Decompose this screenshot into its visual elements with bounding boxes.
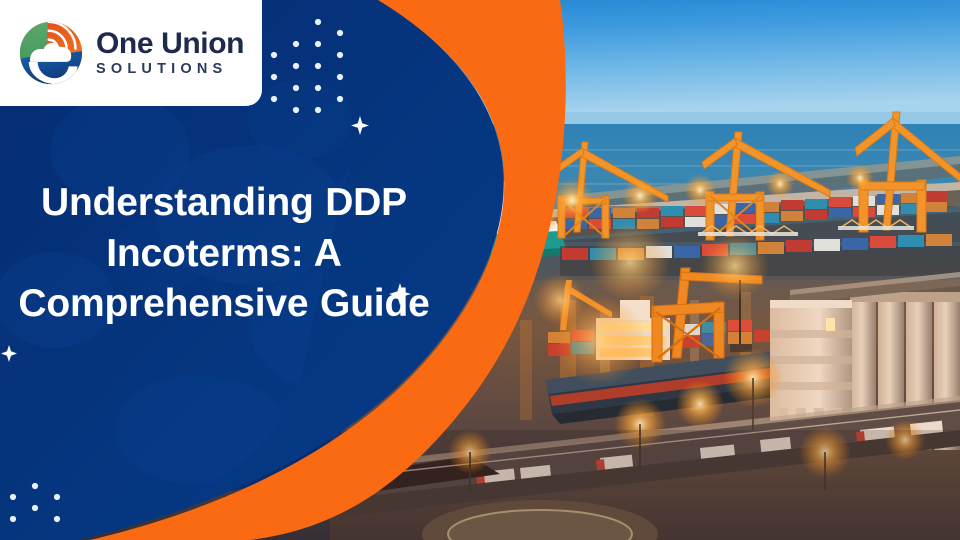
one-union-logo-icon bbox=[14, 16, 88, 90]
logo-company-name: One Union bbox=[96, 29, 244, 59]
cover-title-block: Understanding DDP Incoterms: A Comprehen… bbox=[14, 178, 434, 330]
blog-cover-banner: One Union SOLUTIONS Understanding DDP In… bbox=[0, 0, 960, 540]
page-title: Understanding DDP Incoterms: A Comprehen… bbox=[14, 178, 434, 330]
logo-company-subtitle: SOLUTIONS bbox=[96, 62, 244, 77]
brand-logo-box[interactable]: One Union SOLUTIONS bbox=[0, 0, 262, 106]
logo-wordmark: One Union SOLUTIONS bbox=[96, 29, 244, 77]
